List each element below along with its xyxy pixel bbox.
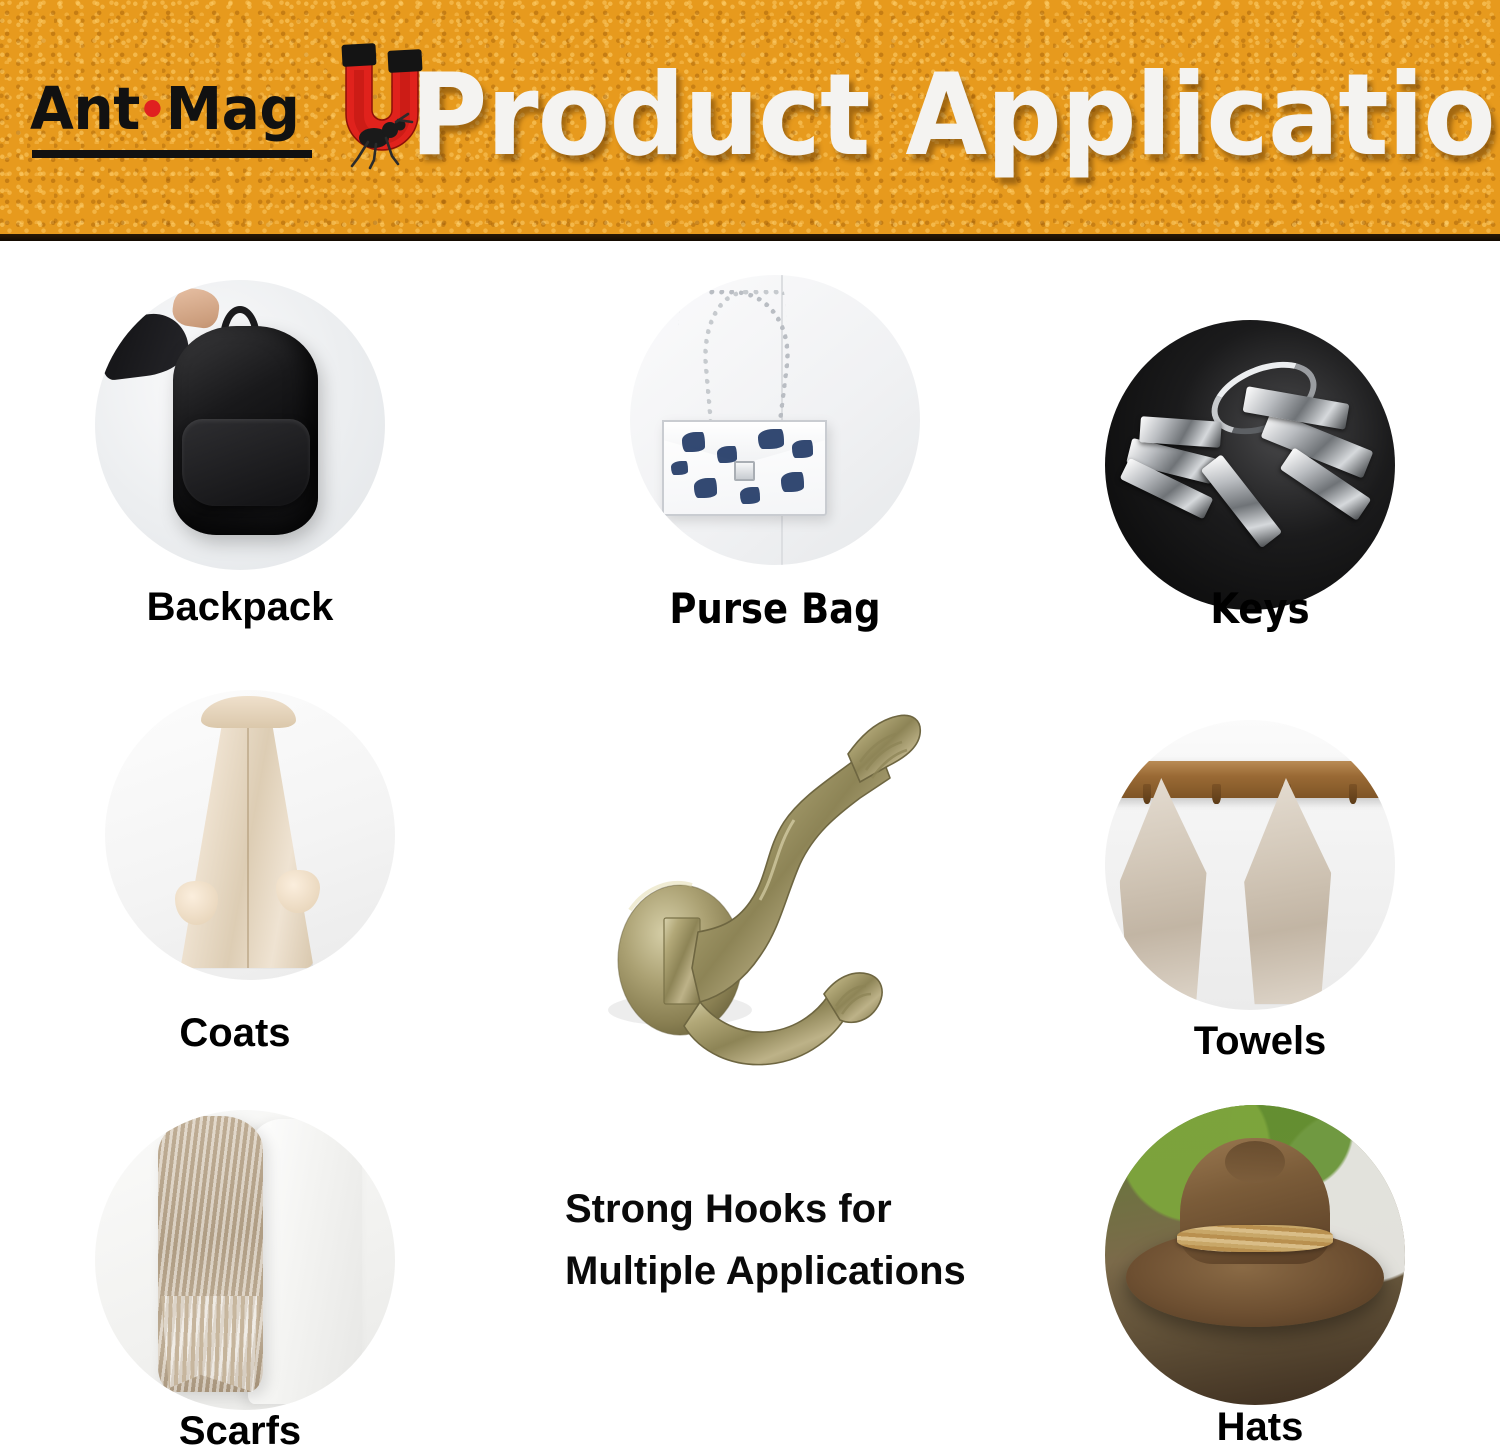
brand-logo: AntMag (30, 78, 320, 168)
brand-logo-dot (145, 100, 161, 117)
caption-hats: Hats (1110, 1404, 1410, 1450)
product-headline-line2: Multiple Applications (565, 1240, 1085, 1302)
caption-backpack: Backpack (90, 584, 390, 630)
brand-name-part1: Ant (30, 74, 140, 143)
coat-hook-product-image (560, 650, 960, 1100)
caption-coats: Coats (85, 1010, 385, 1056)
header-banner: AntMag (0, 0, 1500, 241)
banner-bottom-border (0, 234, 1500, 241)
towels-photo (1105, 720, 1395, 1010)
purse-bag-photo (630, 275, 920, 565)
keys-photo (1105, 320, 1395, 610)
brand-name-part2: Mag (166, 74, 300, 143)
hats-photo (1105, 1105, 1405, 1405)
product-applications-infographic: AntMag (0, 0, 1500, 1452)
brand-logo-underline (32, 150, 312, 158)
backpack-photo (95, 280, 385, 570)
caption-purse-bag: Purse Bag (643, 586, 907, 632)
brand-logo-text: AntMag (30, 78, 299, 140)
product-headline: Strong Hooks for Multiple Applications (565, 1178, 1085, 1302)
caption-scarfs: Scarfs (90, 1408, 390, 1452)
scarfs-photo (95, 1110, 395, 1410)
coats-photo (105, 690, 395, 980)
caption-towels: Towels (1110, 1018, 1410, 1064)
banner-title: Product Applications (410, 52, 1424, 182)
caption-keys: Keys (1128, 586, 1392, 632)
product-headline-line1: Strong Hooks for (565, 1178, 1085, 1240)
